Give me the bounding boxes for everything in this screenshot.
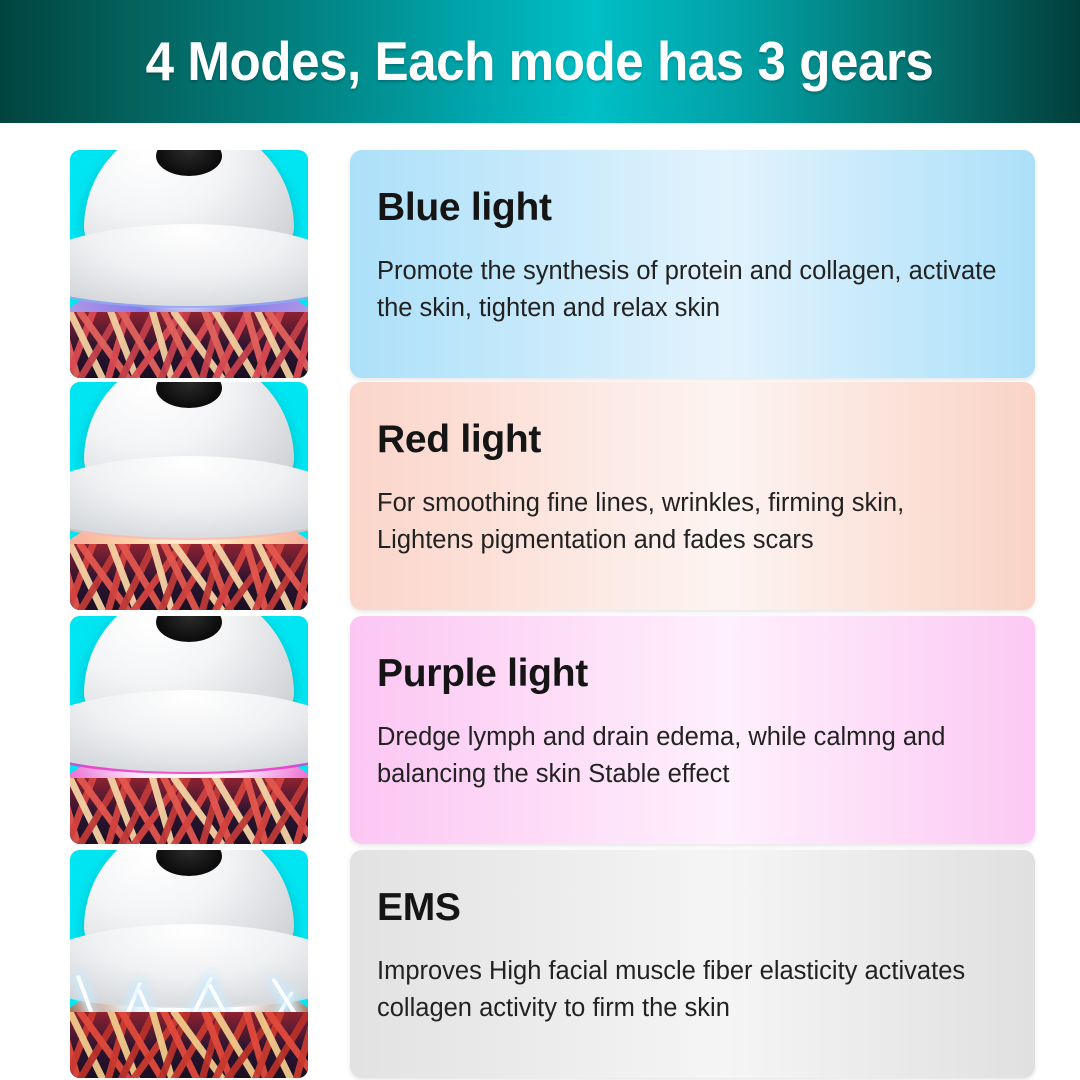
mode-title: EMS (377, 888, 1005, 927)
mode-description: Dredge lymph and drain edema, while calm… (377, 719, 1002, 793)
infographic-page: 4 Modes, Each mode has 3 gears (0, 0, 1080, 1080)
mode-card-ems: EMS Improves High facial muscle fiber el… (350, 850, 1035, 1078)
muscle-fiber-layer (70, 1012, 308, 1078)
mode-row-ems: EMS Improves High facial muscle fiber el… (0, 850, 1080, 1078)
mode-title: Purple light (377, 654, 1005, 693)
modes-list: Blue light Promote the synthesis of prot… (0, 123, 1080, 1080)
header-banner: 4 Modes, Each mode has 3 gears (0, 0, 1080, 123)
mode-row-purple-light: Purple light Dredge lymph and drain edem… (0, 616, 1080, 844)
mode-description: For smoothing fine lines, wrinkles, firm… (377, 485, 1002, 559)
collagen-fiber-layer (70, 544, 308, 610)
mode-row-blue-light: Blue light Promote the synthesis of prot… (0, 150, 1080, 378)
thumbnail-blue-light (70, 150, 308, 378)
mode-row-red-light: Red light For smoothing fine lines, wrin… (0, 382, 1080, 610)
thumbnail-purple-light (70, 616, 308, 844)
mode-title: Blue light (377, 188, 1005, 227)
collagen-fiber-layer (70, 778, 308, 844)
thumbnail-red-light (70, 382, 308, 610)
mode-description: Improves High facial muscle fiber elasti… (377, 953, 1002, 1027)
thumbnail-ems (70, 850, 308, 1078)
mode-card-red-light: Red light For smoothing fine lines, wrin… (350, 382, 1035, 610)
page-title: 4 Modes, Each mode has 3 gears (146, 34, 934, 89)
mode-card-purple-light: Purple light Dredge lymph and drain edem… (350, 616, 1035, 844)
collagen-fiber-layer (70, 312, 308, 378)
mode-card-blue-light: Blue light Promote the synthesis of prot… (350, 150, 1035, 378)
mode-title: Red light (377, 420, 1005, 459)
mode-description: Promote the synthesis of protein and col… (377, 253, 1002, 327)
